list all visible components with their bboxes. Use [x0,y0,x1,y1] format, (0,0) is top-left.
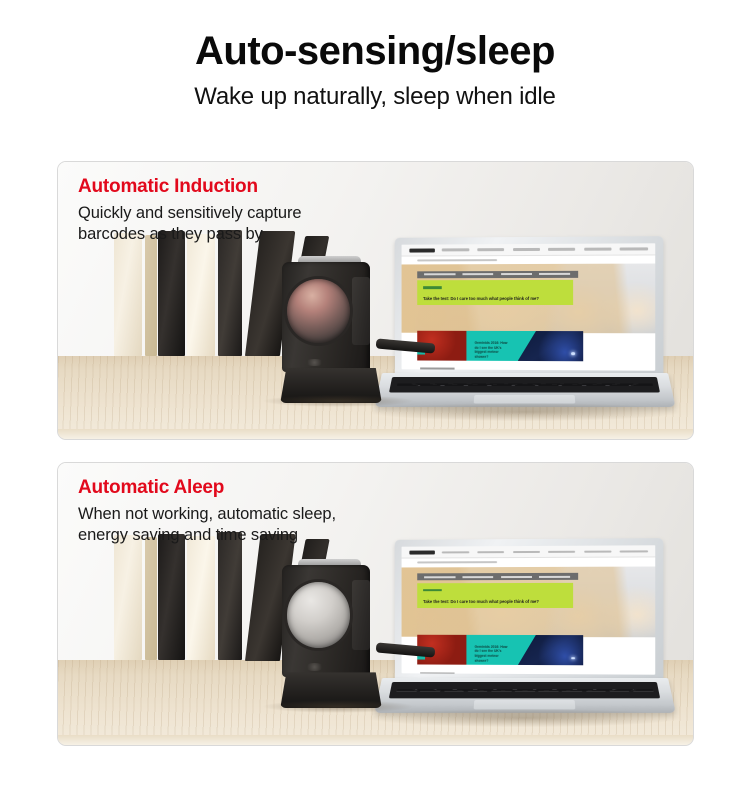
laptop-lid: Take the test: Do I care too much what p… [395,236,663,378]
browser-nav-links [442,248,647,251]
card-corner-shape [518,635,536,666]
card-meteor-text: Geminids 2016: How do I see the UK's big… [475,645,510,664]
desk-front-edge [58,735,693,745]
headline-banner: Take the test: Do I care too much what p… [417,280,573,305]
story-cards: Geminids 2016: How do I see the UK's big… [417,634,583,665]
panel-1-body-line2: barcodes as they pass by [78,224,301,245]
panel-2-body-line1: When not working, automatic sleep, [78,504,336,525]
laptop-computer: Take the test: Do I care too much what p… [382,237,668,414]
headline-banner: Take the test: Do I care too much what p… [417,583,573,609]
panel-2-body-line2: energy saving and time saving [78,525,336,546]
section-nav-strip [417,270,578,277]
book-black-1 [158,231,185,356]
laptop-screen: Take the test: Do I care too much what p… [402,244,655,371]
scanner-body [282,262,369,372]
card-meteor-text: Geminids 2016: How do I see the UK's big… [475,341,510,360]
story-card-space [518,635,583,666]
feature-panel-automatic-induction: Take the test: Do I care too much what p… [57,161,694,440]
panel-1-text-block: Automatic Induction Quickly and sensitiv… [78,176,301,246]
panel-2-body: When not working, automatic sleep, energ… [78,504,336,547]
browser-header-bar [402,244,655,257]
laptop-base [374,678,675,712]
browser-nav-links [442,550,647,553]
page-subtitle: Wake up naturally, sleep when idle [0,84,750,110]
card-corner-shape [518,331,536,361]
scanner-lens-glowing-red-icon [287,279,350,343]
scanner-side-panel [352,580,369,650]
laptop-keyboard [389,377,660,393]
book-black-2 [218,532,242,660]
story-card-meteor: Geminids 2016: How do I see the UK's big… [467,635,519,666]
scanner-brand-logo [305,359,324,367]
story-card-space [518,331,583,361]
panel-2-heading: Automatic Aleep [78,477,336,500]
scanner-lens-dim-grey-icon [287,582,350,647]
laptop-shadow [370,403,679,421]
page-header: Auto-sensing/sleep Wake up naturally, sl… [0,0,750,110]
book-cream-1 [114,535,142,661]
laptop-base [374,373,675,407]
headline-text: Take the test: Do I care too much what p… [423,296,567,302]
laptop-keyboard [389,682,660,698]
headline-tag [423,286,441,288]
story-card-meteor: Geminids 2016: How do I see the UK's big… [467,331,519,361]
feature-panel-automatic-sleep: Take the test: Do I care too much what p… [57,462,694,746]
book-cream-2 [187,234,215,356]
book-black-2 [218,230,242,356]
panel-1-heading: Automatic Induction [78,176,301,199]
star-dot-icon [572,657,575,660]
bbc-logo-icon [410,550,436,554]
page-title: Auto-sensing/sleep [0,30,750,72]
panel-1-body: Quickly and sensitively capture barcodes… [78,203,301,246]
barcode-scanner-active [280,262,382,403]
laptop-lid: Take the test: Do I care too much what p… [395,538,663,682]
story-cards: Geminids 2016: How do I see the UK's big… [417,330,583,361]
card-caption [417,361,466,368]
scanner-shadow [262,395,414,408]
laptop-screen: Take the test: Do I care too much what p… [402,546,655,675]
desk-front-edge [58,429,693,439]
scanner-side-panel [352,277,369,345]
book-cream-1 [114,233,142,356]
scanner-body [282,565,369,677]
book-cream-2 [187,536,215,660]
panel-2-text-block: Automatic Aleep When not working, automa… [78,477,336,547]
barcode-scanner-sleeping [280,565,382,709]
bbc-logo-icon [410,248,436,252]
scanner-shadow [262,700,414,713]
laptop-shadow [370,709,679,727]
book-black-1 [158,534,185,661]
headline-text: Take the test: Do I care too much what p… [423,599,567,605]
product-feature-page: Auto-sensing/sleep Wake up naturally, sl… [0,0,750,800]
card-caption [417,665,466,673]
headline-tag [423,589,441,591]
scanner-brand-logo [305,663,324,671]
book-tan [145,537,157,660]
book-tan [145,235,157,356]
laptop-computer: Take the test: Do I care too much what p… [382,539,668,719]
star-dot-icon [572,352,575,355]
panel-1-body-line1: Quickly and sensitively capture [78,203,301,224]
section-nav-strip [417,573,578,580]
